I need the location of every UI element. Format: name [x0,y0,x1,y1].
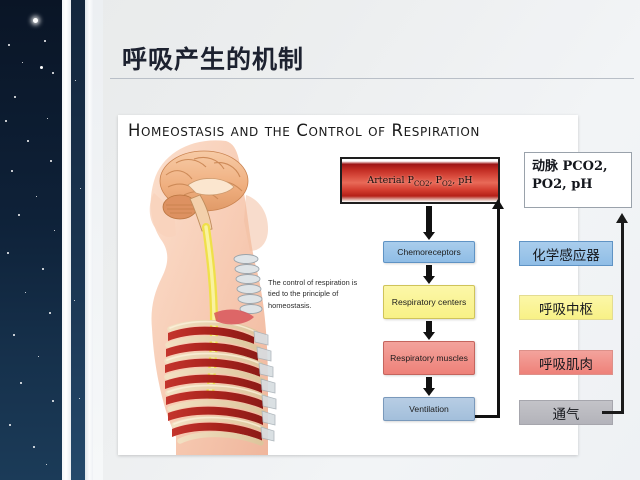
annotation-feedback-arrowhead [616,213,628,223]
feedback-arrowhead [492,199,504,209]
flow-box-ventilation-label: Ventilation [409,404,449,415]
annotation-chemoreceptors-cn: 化学感应器 [519,241,613,266]
diagram-caption: The control of respiration is tied to th… [268,277,360,311]
border-stripe-fade [93,0,103,480]
border-stripe-light-outer [62,0,71,480]
annotation-respiratory-centers-cn: 呼吸中枢 [519,295,613,320]
title-divider [110,78,634,79]
feedback-line-vertical [497,207,500,418]
flow-box-ventilation[interactable]: Ventilation [383,397,475,421]
annotation-respiratory-centers-cn-label: 呼吸中枢 [539,298,593,318]
flow-box-chemoreceptors[interactable]: Chemoreceptors [383,241,475,263]
annotation-ventilation-cn: 通气 [519,400,613,425]
flow-box-respiratory-muscles-label: Respiratory muscles [390,353,468,364]
starfield-decoration [0,0,62,480]
annotation-arterial-cn: 动脉 PCO2, PO2, pH [524,152,632,208]
annotation-respiratory-muscles-cn: 呼吸肌肉 [519,350,613,375]
arrow-centers-to-muscles [426,321,432,333]
presentation-slide: 呼吸产生的机制 Homeostasis and the Control of R… [0,0,640,480]
flow-box-respiratory-centers[interactable]: Respiratory centers [383,285,475,319]
annotation-chemoreceptors-cn-label: 化学感应器 [532,244,600,264]
arrow-chemoreceptors-to-centers [426,265,432,277]
flow-box-chemoreceptors-label: Chemoreceptors [397,247,461,258]
arrow-muscles-to-ventilation [426,377,432,389]
arterial-blood-label: Arterial PCO2, PO2, pH [342,175,498,188]
flow-box-respiratory-muscles[interactable]: Respiratory muscles [383,341,475,375]
annotation-feedback-line-vertical [621,222,624,414]
border-stripe-light-inner [85,0,93,480]
flow-box-respiratory-centers-label: Respiratory centers [392,297,467,308]
diagram-panel: Homeostasis and the Control of Respirati… [118,115,578,455]
border-stripe-dark [71,0,85,480]
page-title: 呼吸产生的机制 [122,40,304,76]
annotation-ventilation-cn-label: 通气 [553,403,580,423]
arterial-blood-box: Arterial PCO2, PO2, pH [340,157,500,204]
arrow-arterial-to-chemoreceptors [426,206,432,233]
annotation-respiratory-muscles-cn-label: 呼吸肌肉 [539,353,593,373]
